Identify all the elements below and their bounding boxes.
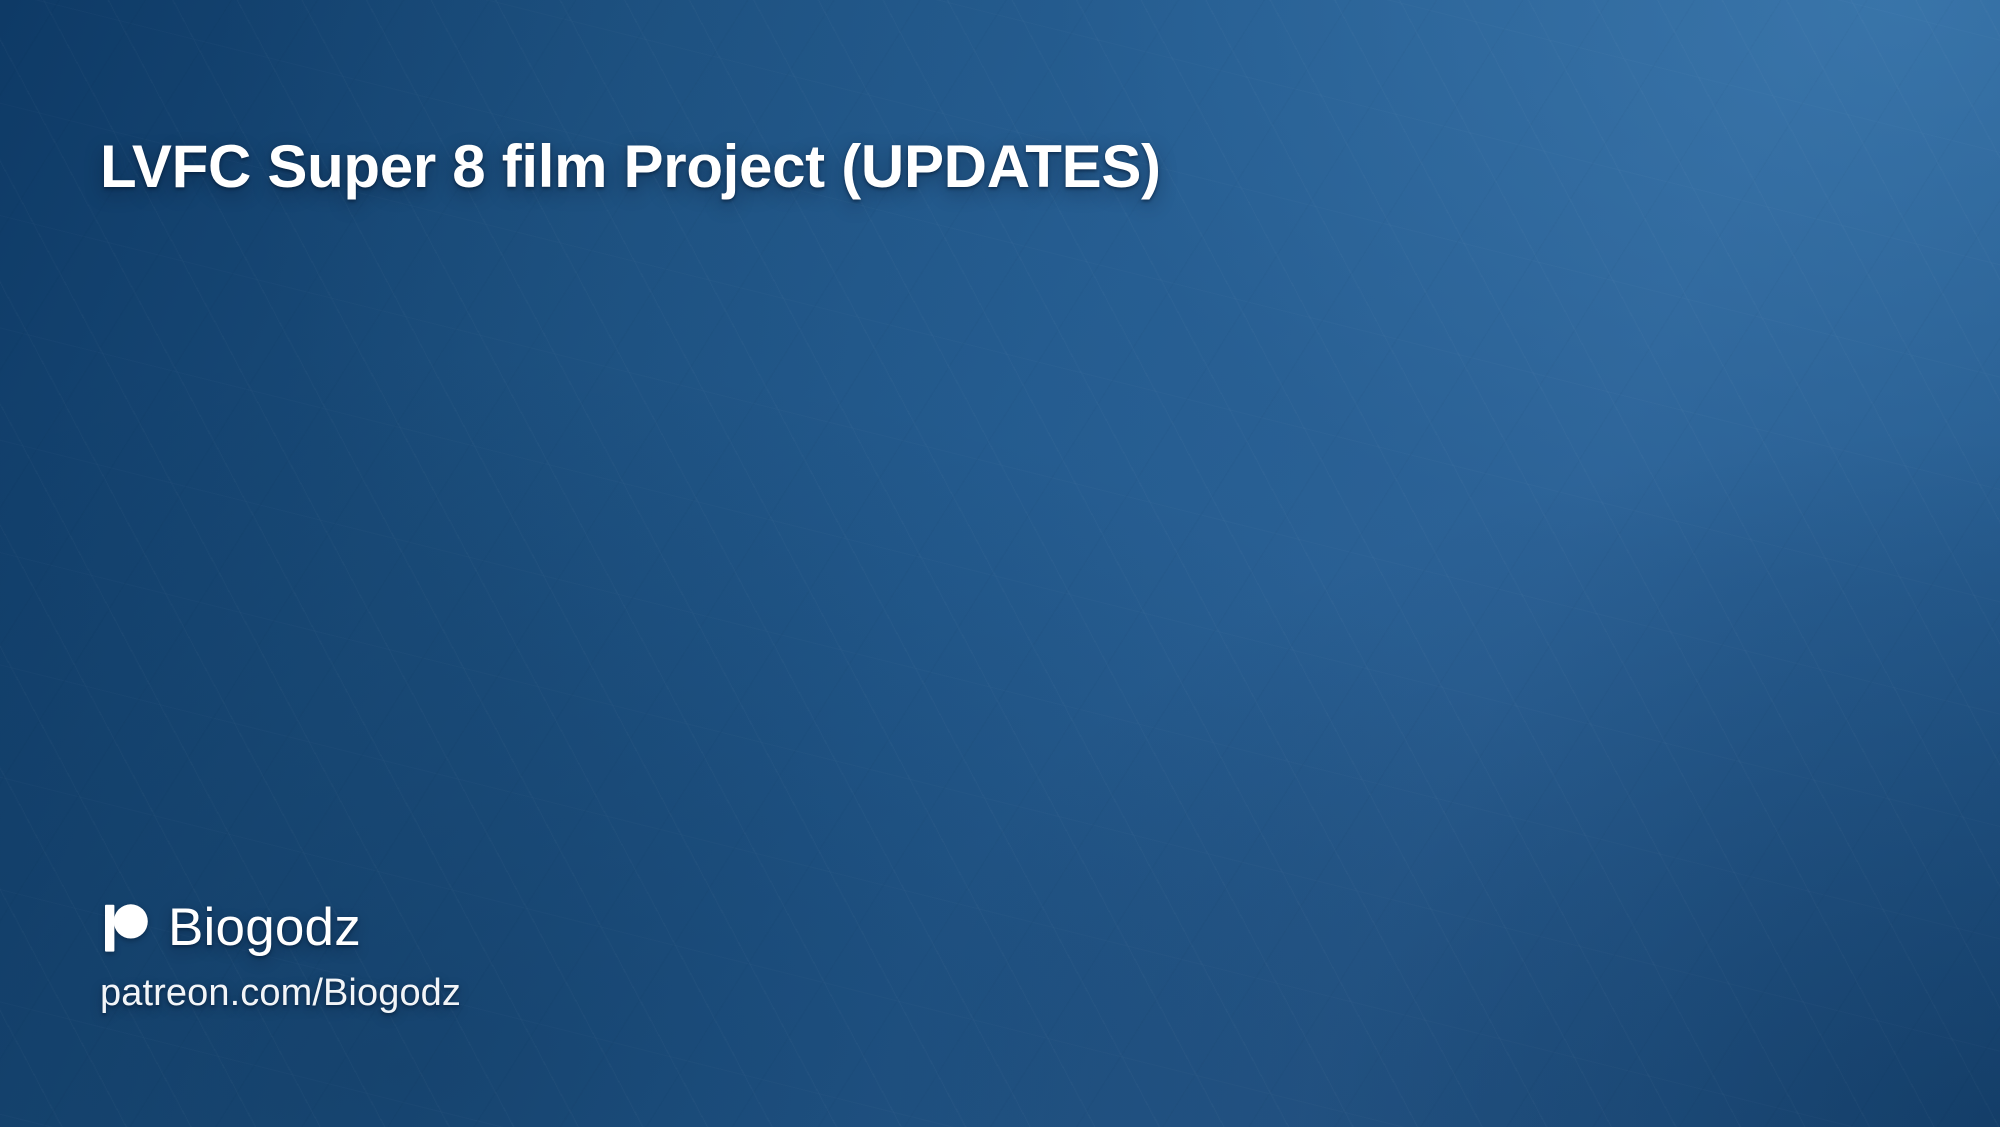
creator-profile-url[interactable]: patreon.com/Biogodz	[100, 974, 461, 1012]
patreon-share-card: LVFC Super 8 film Project (UPDATES) Biog…	[0, 0, 2000, 1127]
post-title: LVFC Super 8 film Project (UPDATES)	[100, 132, 1161, 203]
card-content: LVFC Super 8 film Project (UPDATES) Biog…	[0, 0, 2000, 1127]
creator-footer: Biogodz patreon.com/Biogodz	[100, 901, 461, 1012]
patreon-logo-icon	[100, 903, 148, 953]
creator-name: Biogodz	[168, 901, 361, 954]
creator-row[interactable]: Biogodz	[100, 901, 461, 954]
